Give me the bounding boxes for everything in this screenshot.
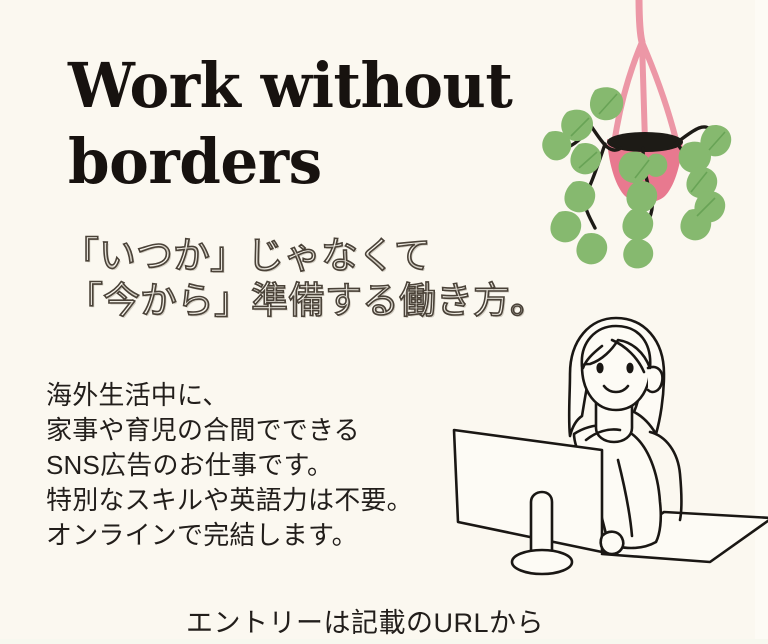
headline-line-1: Work without [68, 48, 519, 124]
poster-canvas: Work without borders 「いつか」じゃなくて 「今から」準備す… [0, 0, 768, 644]
headline: Work without borders [68, 48, 538, 200]
monitor-stand-post [531, 492, 552, 556]
body-line-2: 家事や育児の合間でできる [46, 413, 446, 448]
hanging-plant-illustration [543, 0, 768, 268]
footer-caption: エントリーは記載のURLから [186, 606, 544, 640]
body-line-1: 海外生活中に、 [46, 378, 446, 413]
body-copy: 海外生活中に、 家事や育児の合間でできる SNS広告のお仕事です。 特別なスキル… [46, 378, 446, 553]
subtitle-line-1: 「いつか」じゃなくて [62, 233, 532, 278]
ear [648, 367, 662, 392]
monitor-stand-base [512, 550, 572, 574]
plant-hanger-ropes [613, 0, 679, 149]
right-eye [626, 363, 633, 374]
body-line-4: 特別なスキルや英語力は不要。 [46, 483, 446, 518]
hand [601, 532, 624, 554]
body-line-3: SNS広告のお仕事です。 [46, 448, 446, 483]
headline-line-2: borders [68, 124, 519, 200]
left-eye [596, 363, 603, 374]
woman-at-computer-illustration [452, 306, 768, 606]
monitor-screen [454, 430, 602, 552]
bottom-edge-band [0, 639, 768, 644]
body-line-5: オンラインで完結します。 [46, 518, 446, 553]
